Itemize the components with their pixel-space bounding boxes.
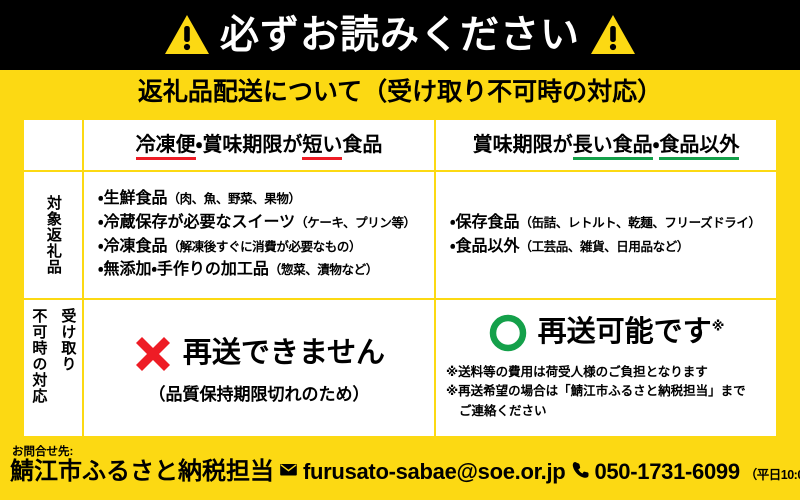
column-header-short: 冷凍便・賞味期限が短い食品 <box>83 119 435 171</box>
contact-footer: お問合せ先: 鯖江市ふるさと納税担当 furusato-sabae@soe.or… <box>0 440 800 500</box>
phone-icon <box>570 460 589 479</box>
action-text-right-label: 再送可能です <box>538 316 712 348</box>
list-item-note: （惣菜、漬物など） <box>269 263 378 277</box>
list-item: 無添加・手作りの加工品（惣菜、漬物など） <box>98 262 428 279</box>
contact-hours: （平日10:00-17:00対応） <box>745 464 800 483</box>
table-corner-cell <box>23 119 83 171</box>
column-header-long-part1: 賞味期限が <box>473 134 573 156</box>
list-item: 保存食品（缶詰、レトルト、乾麺、フリーズドライ） <box>450 215 770 232</box>
action-note-line: ※送料等の費用は荷受人様のご負担となります <box>446 365 776 381</box>
action-note-left: （品質保持期限切れのため） <box>84 386 434 403</box>
action-text-right: 再送可能です※ <box>538 318 725 347</box>
cross-mark-icon <box>133 334 173 374</box>
column-header-short-part3: 短い <box>302 134 342 160</box>
list-item-note: （缶詰、レトルト、乾麺、フリーズドライ） <box>519 216 760 230</box>
cell-right-items: 保存食品（缶詰、レトルト、乾麺、フリーズドライ） 食品以外（工芸品、雑貨、日用品… <box>435 171 777 299</box>
column-header-short-part4: 食品 <box>342 134 382 156</box>
cell-left-items: 生鮮食品（肉、魚、野菜、果物） 冷蔵保存が必要なスイーツ（ケーキ、プリン等） 冷… <box>83 171 435 299</box>
cell-right-action: 再送可能です※ ※送料等の費用は荷受人様のご負担となります ※再送希望の場合は「… <box>435 299 777 437</box>
column-header-short-part1: 冷凍便 <box>136 134 196 160</box>
asterisk-mark: ※ <box>712 318 725 333</box>
action-notes-right: ※送料等の費用は荷受人様のご負担となります ※再送希望の場合は「鯖江市ふるさと納… <box>436 365 776 420</box>
action-note-line: ご連絡ください <box>446 404 776 420</box>
warning-triangle-icon <box>590 14 636 56</box>
row-label-text: 対象返礼品 <box>44 195 62 275</box>
list-item-main: 保存食品 <box>455 214 519 231</box>
list-item-note: （解凍後すぐに消費が必要なもの） <box>167 240 361 254</box>
cell-left-action: 再送できません （品質保持期限切れのため） <box>83 299 435 437</box>
list-item-main: 生鮮食品 <box>103 190 167 207</box>
column-header-long-part3: 食品以外 <box>659 134 739 160</box>
page-title: 必ずお読みください <box>220 16 580 55</box>
contact-phone[interactable]: 050-1731-6099 <box>594 461 739 483</box>
list-item: 冷凍食品（解凍後すぐに消費が必要なもの） <box>98 239 428 256</box>
contact-email[interactable]: furusato-sabae@soe.or.jp <box>303 461 565 483</box>
list-item: 食品以外（工芸品、雑貨、日用品など） <box>450 239 770 256</box>
list-item: 冷蔵保存が必要なスイーツ（ケーキ、プリン等） <box>98 215 428 232</box>
row-label-text-line1: 受け取り <box>59 308 77 372</box>
column-header-short-part2: 賞味期限が <box>202 134 302 156</box>
envelope-icon <box>279 460 298 479</box>
list-item-main: 冷蔵保存が必要なスイーツ <box>103 214 295 231</box>
list-left-items: 生鮮食品（肉、魚、野菜、果物） 冷蔵保存が必要なスイーツ（ケーキ、プリン等） 冷… <box>84 180 434 290</box>
table-row-action: 受け取り 不可時の対応 再送できません （品質保持期限切れのため） <box>23 299 777 437</box>
header-band: 必ずお読みください <box>0 0 800 70</box>
list-item-main: 冷凍食品 <box>103 238 167 255</box>
row-label-action: 受け取り 不可時の対応 <box>23 299 83 437</box>
subtitle-band: 返礼品配送について（受け取り不可時の対応） <box>0 70 800 114</box>
list-right-items: 保存食品（缶詰、レトルト、乾麺、フリーズドライ） 食品以外（工芸品、雑貨、日用品… <box>436 204 776 267</box>
list-item-note: （ケーキ、プリン等） <box>295 216 416 230</box>
poster-root: 必ずお読みください 返礼品配送について（受け取り不可時の対応） 冷凍便・賞味期限… <box>0 0 800 500</box>
list-item-main: 無添加・手作りの加工品 <box>103 261 268 278</box>
action-text-left: 再送できません <box>183 339 385 368</box>
list-item-note: （工芸品、雑貨、日用品など） <box>519 240 688 254</box>
row-label-text-line2: 不可時の対応 <box>30 308 48 404</box>
column-header-long-part2: 長い食品 <box>573 134 653 160</box>
contact-label: お問合せ先: <box>12 446 790 459</box>
row-label-target-items: 対象返礼品 <box>23 171 83 299</box>
action-note-line: ※再送希望の場合は「鯖江市ふるさと納税担当」まで <box>446 384 776 400</box>
list-item-note: （肉、魚、野菜、果物） <box>167 192 300 206</box>
table-row-target-items: 対象返礼品 生鮮食品（肉、魚、野菜、果物） 冷蔵保存が必要なスイーツ（ケーキ、プ… <box>23 171 777 299</box>
list-item-main: 食品以外 <box>455 238 519 255</box>
list-item: 生鮮食品（肉、魚、野菜、果物） <box>98 191 428 208</box>
circle-mark-icon <box>488 313 528 353</box>
column-header-long: 賞味期限が長い食品・食品以外 <box>435 119 777 171</box>
info-table: 冷凍便・賞味期限が短い食品 賞味期限が長い食品・食品以外 対象返礼品 <box>22 118 778 436</box>
subtitle-text: 返礼品配送について（受け取り不可時の対応） <box>138 80 662 105</box>
contact-org: 鯖江市ふるさと納税担当 <box>10 460 274 484</box>
table-header-row: 冷凍便・賞味期限が短い食品 賞味期限が長い食品・食品以外 <box>23 119 777 171</box>
warning-triangle-icon <box>164 14 210 56</box>
